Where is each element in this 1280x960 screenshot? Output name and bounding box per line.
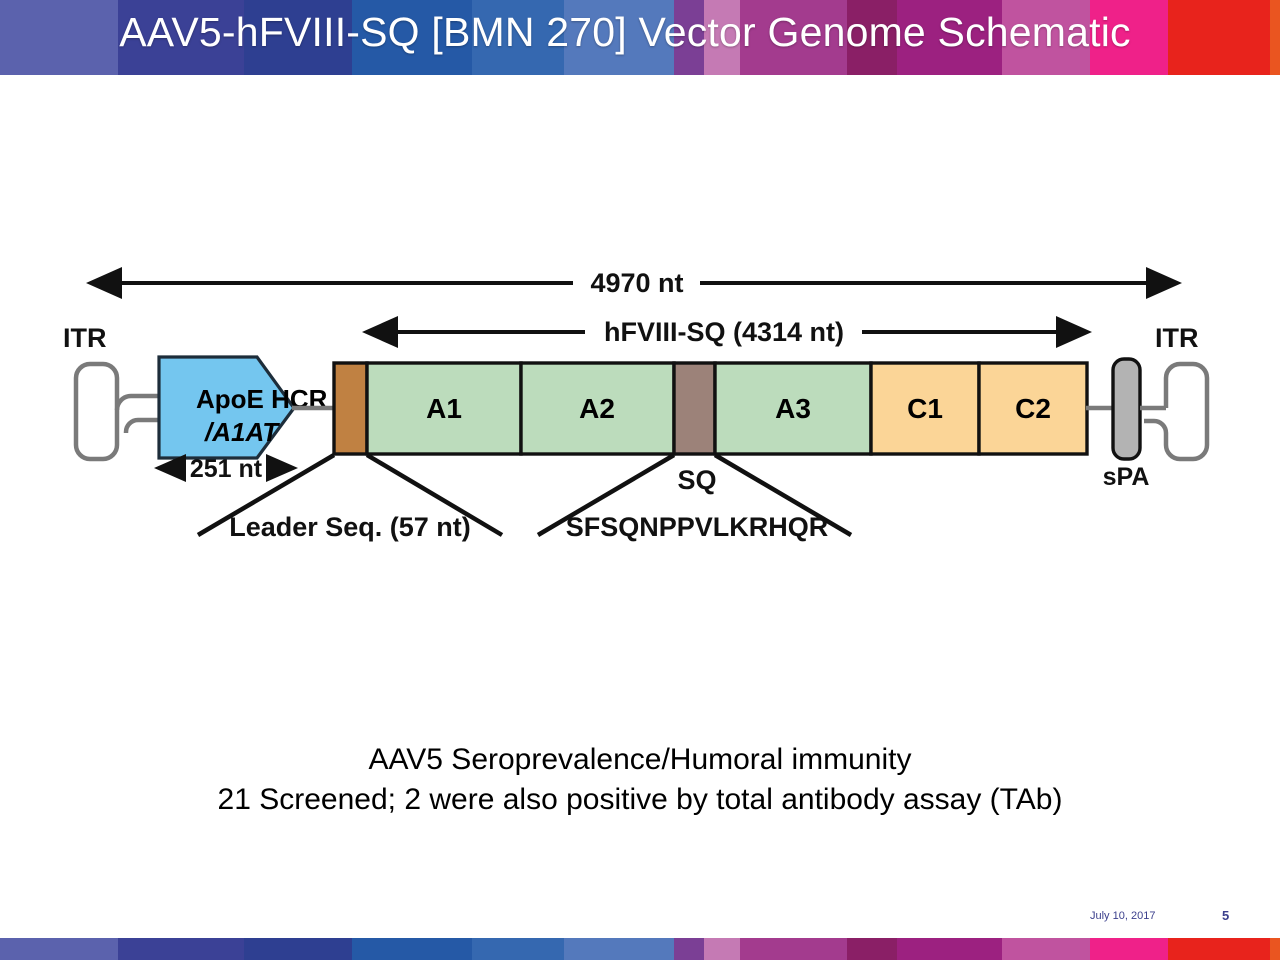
page-title: AAV5-hFVIII-SQ [BMN 270] Vector Genome S… — [0, 10, 1250, 55]
spa-label: sPA — [1103, 463, 1150, 491]
bband-seg-14 — [1168, 938, 1270, 960]
footer-date: July 10, 2017 — [1090, 910, 1155, 922]
domain-boxes: A1 A2 A3 C1 C2 — [334, 363, 1087, 454]
domain-c1-label: C1 — [907, 393, 943, 424]
slide-canvas: AAV5-hFVIII-SQ [BMN 270] Vector Genome S… — [0, 0, 1280, 960]
schematic-svg: 4970 nt hFVIII-SQ (4314 nt) ITR ITR — [0, 240, 1280, 570]
bband-seg-7 — [674, 938, 704, 960]
domain-sq[interactable] — [674, 363, 715, 454]
hfviii-sq-label: hFVIII-SQ (4314 nt) — [604, 317, 844, 347]
itr-right-label: ITR — [1155, 323, 1199, 353]
bband-seg-13 — [1090, 938, 1168, 960]
itr-left-label: ITR — [63, 323, 107, 353]
footer-page-number: 5 — [1222, 908, 1229, 923]
bband-seg-5 — [472, 938, 564, 960]
total-length-arrow: 4970 nt — [92, 268, 1176, 298]
bottom-color-band — [0, 938, 1280, 960]
domain-a3-label: A3 — [775, 393, 811, 424]
callout-sq-label: SQ — [677, 465, 716, 495]
bband-seg-9 — [740, 938, 847, 960]
body-line-1: AAV5 Seroprevalence/Humoral immunity — [0, 740, 1280, 780]
bband-seg-8 — [704, 938, 740, 960]
body-text-block: AAV5 Seroprevalence/Humoral immunity 21 … — [0, 740, 1280, 819]
total-length-label: 4970 nt — [590, 268, 683, 298]
bband-seg-3 — [244, 938, 352, 960]
bband-seg-6 — [564, 938, 674, 960]
hfviii-sq-arrow: hFVIII-SQ (4314 nt) — [368, 317, 1086, 347]
domain-a2-label: A2 — [579, 393, 615, 424]
domain-a1-label: A1 — [426, 393, 462, 424]
callout-sq-peptide-label: SFSQNPPVLKRHQR — [566, 512, 829, 542]
domain-c2-label: C2 — [1015, 393, 1051, 424]
bband-seg-2 — [118, 938, 244, 960]
bband-seg-11 — [897, 938, 1002, 960]
promoter-label-line2: /A1AT — [204, 417, 280, 447]
itr-left-hairpin — [76, 364, 160, 459]
bband-seg-1 — [0, 938, 118, 960]
bband-seg-10 — [847, 938, 897, 960]
spa-element[interactable] — [1113, 359, 1140, 459]
vector-genome-figure: 4970 nt hFVIII-SQ (4314 nt) ITR ITR — [0, 240, 1280, 560]
itr-right-hairpin — [1144, 364, 1207, 459]
bband-seg-4 — [352, 938, 472, 960]
bband-seg-12 — [1002, 938, 1090, 960]
body-line-2: 21 Screened; 2 were also positive by tot… — [0, 780, 1280, 820]
bband-seg-15 — [1270, 938, 1280, 960]
callout-leader-seq-label: Leader Seq. (57 nt) — [229, 512, 471, 542]
band-seg-15 — [1270, 0, 1280, 75]
domain-leader[interactable] — [334, 363, 367, 454]
promoter-size-label: 251 nt — [190, 455, 263, 483]
callout-sq: SQ SFSQNPPVLKRHQR — [538, 455, 851, 542]
